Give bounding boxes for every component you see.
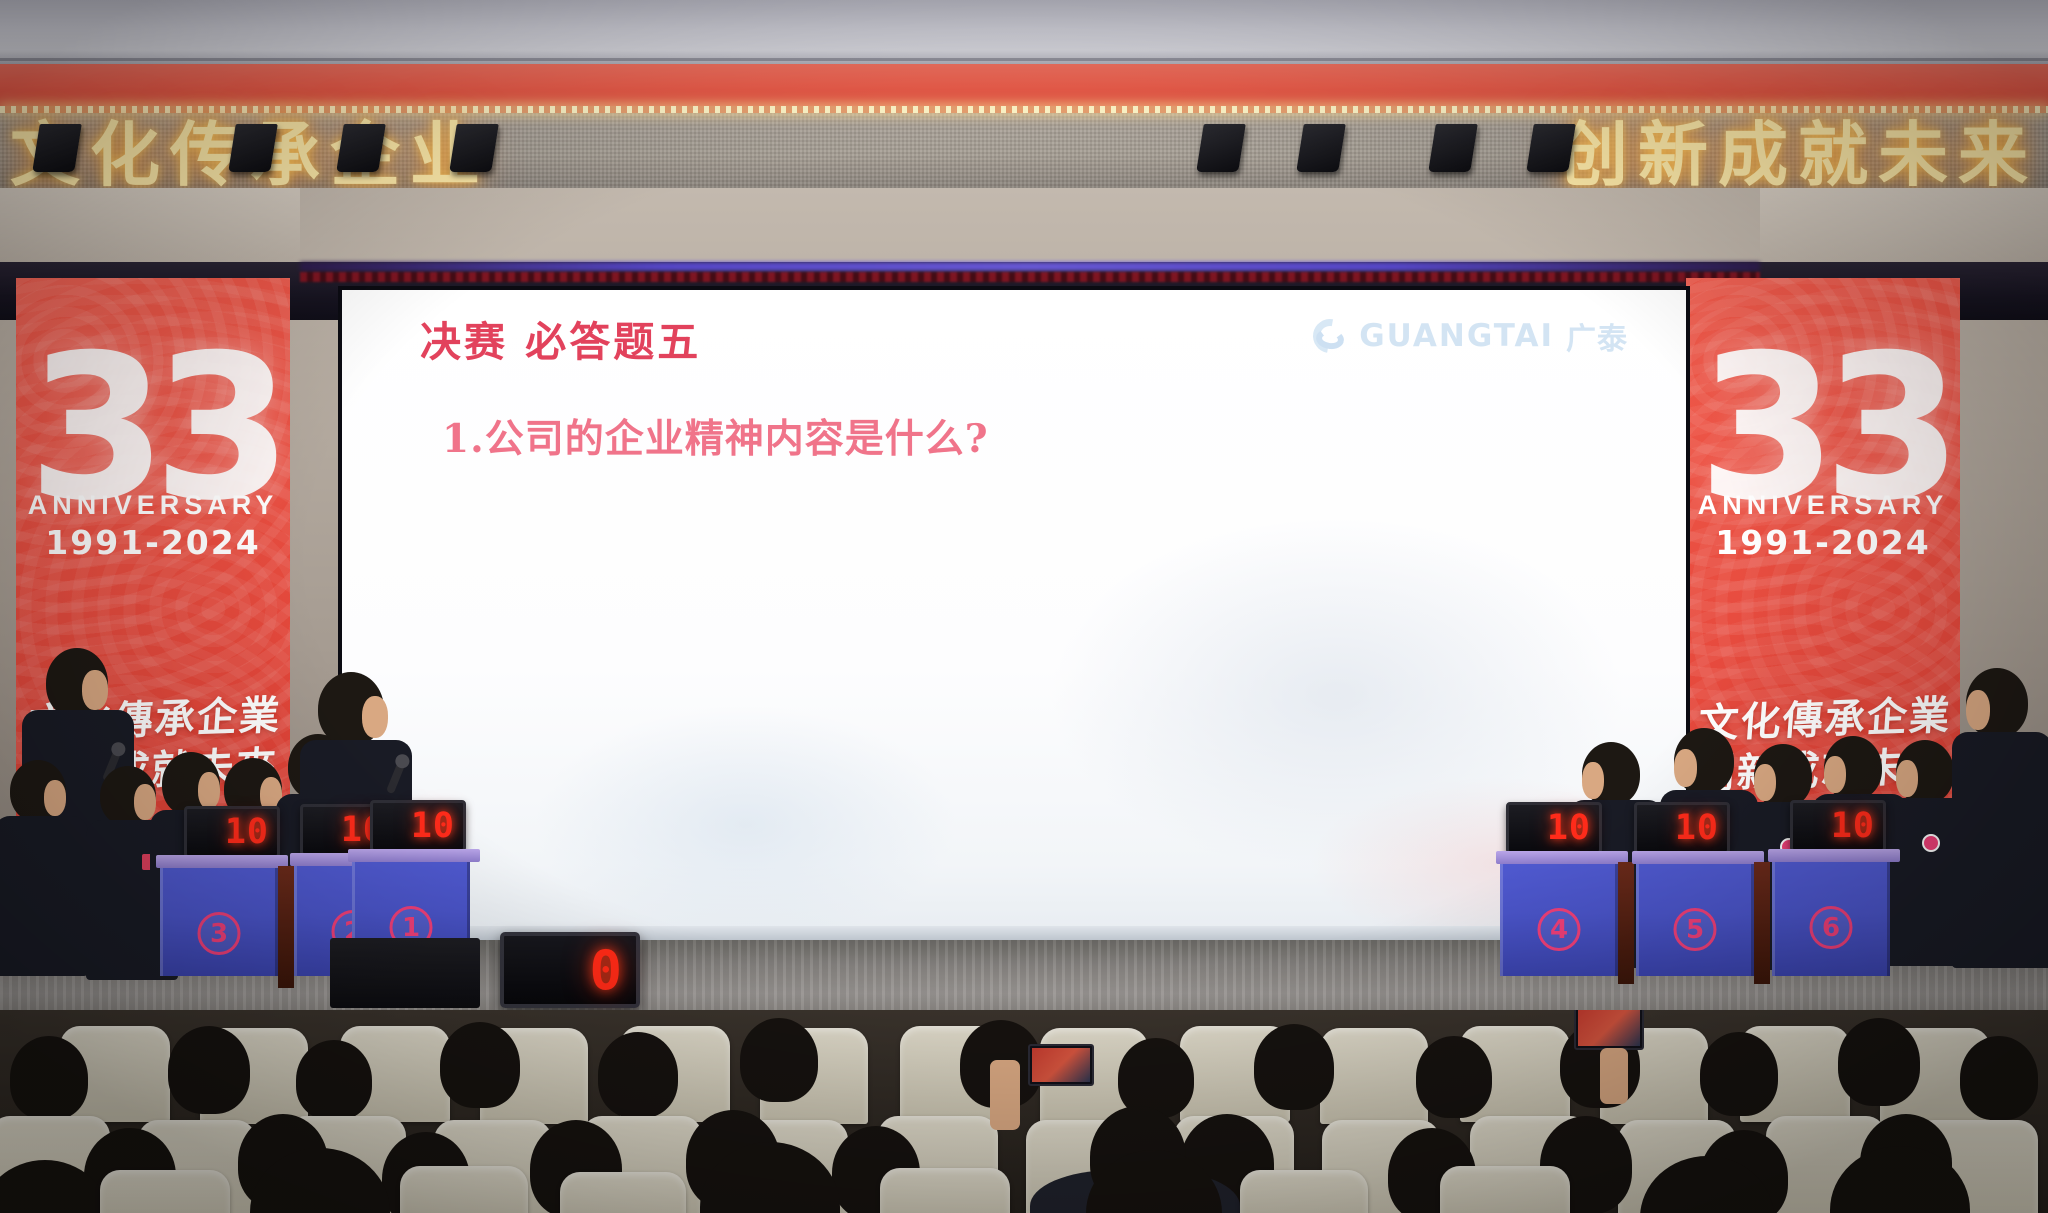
ceiling-speaker-icon [449,124,499,172]
podium-top-rail [156,855,288,868]
contestant-person [0,760,80,950]
seat [1240,1170,1368,1213]
projection-screen: 决赛 必答题五 GUANGTAI 广泰 1.公司的企业精神内容是什么? [342,290,1686,942]
slide-title: 决赛 必答题五 [420,308,701,368]
ceiling-speaker-icon [1296,124,1346,172]
anniversary-word: ANNIVERSARY [16,490,290,521]
score-digits: 10 [1831,806,1875,846]
podium-top-rail [1496,851,1628,864]
audience-head [1700,1032,1778,1116]
anniversary-logo-left: 33 ANNIVERSARY 1991-2024 [16,344,290,562]
ceiling-speaker-icon [336,124,386,172]
podium-4[interactable]: 4 [1500,862,1618,976]
smartphone-screen [1028,1044,1094,1086]
audience-head [440,1022,520,1108]
anniversary-number: 33 [16,344,290,514]
audience-head [168,1026,250,1114]
anniversary-word: ANNIVERSARY [1686,490,1960,521]
podium-divider [1618,862,1634,984]
audience-area [0,1010,2048,1213]
event-photo-scene: 文化传承企业 创新成就未来 33 ANNIVERSARY 1991-2024 文… [0,0,2048,1213]
audience-head [1838,1018,1920,1106]
podium-top-rail [348,849,480,862]
raised-hand [1600,1048,1628,1104]
audience-head [740,1018,818,1102]
score-digits: 10 [411,806,455,846]
slide-question: 1.公司的企业精神内容是什么? [442,408,989,464]
podium-divider [278,866,294,988]
seat [1440,1166,1570,1213]
ceiling-speaker-icon [32,124,82,172]
podium-number: 4 [1538,908,1581,951]
banner-slogan: 文化传承企业 创新成就未来 [0,110,2048,188]
ceiling-speaker-icon [1526,124,1576,172]
score-digits: 10 [225,812,269,852]
score-display: 10 [184,806,280,858]
timer-digits: 0 [589,939,622,1002]
camera-equipment [330,938,480,1008]
podium-top-rail [1632,851,1764,864]
audience-head [1416,1036,1492,1118]
podium-3[interactable]: 3 [160,866,278,976]
anniversary-number: 33 [1686,344,1960,514]
score-digits: 10 [1675,808,1719,848]
raised-hand [990,1060,1020,1130]
score-digits: 10 [1547,808,1591,848]
seat [1320,1028,1428,1124]
ceiling-seam [0,58,2048,61]
audience-head [598,1032,678,1118]
score-display: 10 [1790,800,1886,852]
logo-english-text: GUANGTAI [1359,318,1554,354]
banner-slogan-right: 创新成就未来 [1558,99,2038,189]
podium-5[interactable]: 5 [1636,862,1754,976]
smartphone-screen [1574,1010,1644,1050]
score-display: 10 [1634,802,1730,854]
podium-6[interactable]: 6 [1772,860,1890,976]
audience-head [1960,1036,2038,1120]
ceiling-speaker-icon [1196,124,1246,172]
ceiling-speaker-icon [1428,124,1478,172]
wave-globe-icon [1313,319,1347,353]
wall-red-light-strip [300,272,1760,282]
wall-blue-glow-strip [300,262,1760,271]
podium-top-rail [1768,849,1900,862]
score-display: 10 [370,800,466,852]
audience-head [10,1036,88,1120]
seat [880,1168,1010,1213]
logo-chinese-text: 广泰 [1566,314,1628,358]
ceiling-speaker-icon [228,124,278,172]
staff-person [1952,668,2048,958]
podium-number: 5 [1674,908,1717,951]
seat [100,1170,230,1213]
anniversary-logo-right: 33 ANNIVERSARY 1991-2024 [1686,344,1960,562]
podium-number: 3 [198,912,241,955]
score-display: 10 [1506,802,1602,854]
seat [400,1166,528,1213]
ceiling [0,0,2048,72]
audience-head [296,1040,372,1120]
company-logo: GUANGTAI 广泰 [1313,314,1628,358]
podium-divider [1754,862,1770,984]
number-badge [1922,834,1940,852]
seat [560,1172,686,1213]
countdown-timer-display: 0 [500,932,640,1008]
podium-number: 6 [1810,906,1853,949]
top-led-banner: 文化传承企业 创新成就未来 [0,64,2048,188]
audience-head [1254,1024,1334,1110]
